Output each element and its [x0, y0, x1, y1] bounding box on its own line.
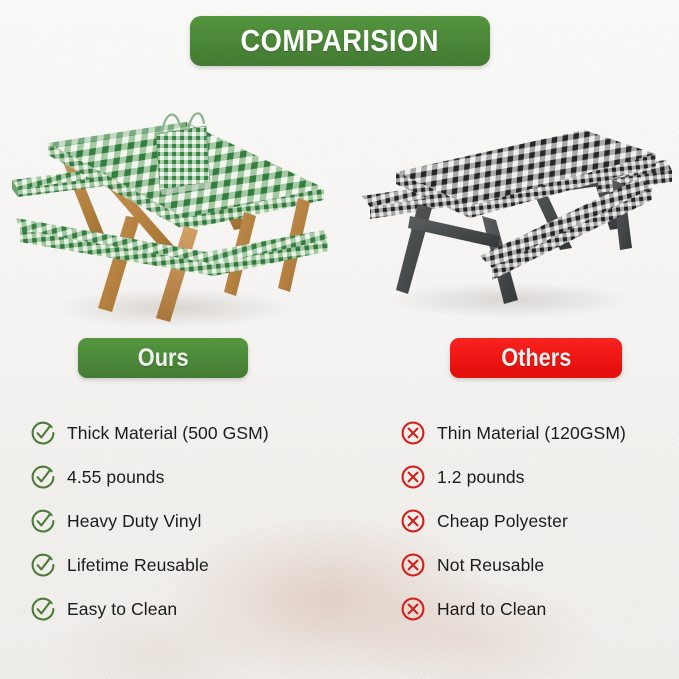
column-badge-others: Others: [450, 338, 622, 378]
feature-row: 4.55 pounds: [30, 464, 360, 490]
product-photo-others: [340, 108, 672, 320]
feature-row: Heavy Duty Vinyl: [30, 508, 360, 534]
x-circle-icon: [400, 596, 426, 622]
feature-list-others: Thin Material (120GSM) 1.2 pounds Cheap …: [400, 420, 670, 640]
feature-label: Thick Material (500 GSM): [67, 423, 269, 444]
feature-label: Thin Material (120GSM): [437, 423, 626, 444]
feature-label: Hard to Clean: [437, 599, 546, 620]
feature-row: Thick Material (500 GSM): [30, 420, 360, 446]
comparison-title-banner: COMPARISION: [190, 16, 490, 66]
product-photo-ours: [8, 96, 328, 332]
feature-row: Not Reusable: [400, 552, 670, 578]
check-circle-icon: [30, 420, 56, 446]
feature-label: 1.2 pounds: [437, 467, 525, 488]
x-circle-icon: [400, 464, 426, 490]
feature-row: Cheap Polyester: [400, 508, 670, 534]
check-circle-icon: [30, 464, 56, 490]
feature-label: 4.55 pounds: [67, 467, 164, 488]
feature-list-ours: Thick Material (500 GSM) 4.55 pounds Hea…: [30, 420, 360, 640]
page-title: COMPARISION: [241, 23, 439, 59]
feature-label: Easy to Clean: [67, 599, 177, 620]
x-circle-icon: [400, 508, 426, 534]
feature-row: Thin Material (120GSM): [400, 420, 670, 446]
feature-label: Lifetime Reusable: [67, 555, 209, 576]
feature-label: Heavy Duty Vinyl: [67, 511, 202, 532]
badge-label-ours: Ours: [138, 344, 189, 373]
feature-row: Hard to Clean: [400, 596, 670, 622]
check-circle-icon: [30, 508, 56, 534]
feature-label: Not Reusable: [437, 555, 544, 576]
feature-row: Easy to Clean: [30, 596, 360, 622]
feature-row: Lifetime Reusable: [30, 552, 360, 578]
feature-label: Cheap Polyester: [437, 511, 568, 532]
x-circle-icon: [400, 552, 426, 578]
x-circle-icon: [400, 420, 426, 446]
column-badge-ours: Ours: [78, 338, 248, 378]
check-circle-icon: [30, 596, 56, 622]
check-circle-icon: [30, 552, 56, 578]
badge-label-others: Others: [501, 344, 571, 373]
comparison-infographic: COMPARISION: [0, 0, 679, 679]
feature-row: 1.2 pounds: [400, 464, 670, 490]
